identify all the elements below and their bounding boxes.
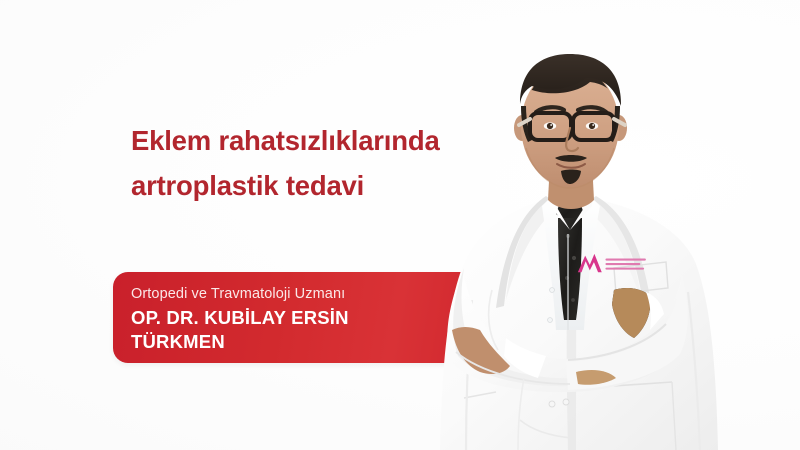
page-title: Eklem rahatsızlıklarında artroplastik te… xyxy=(131,118,531,208)
promo-banner-image: Ortopedi ve Travmatoloji Uzmanı OP. DR. … xyxy=(0,0,800,450)
doctor-portrait xyxy=(400,0,800,450)
